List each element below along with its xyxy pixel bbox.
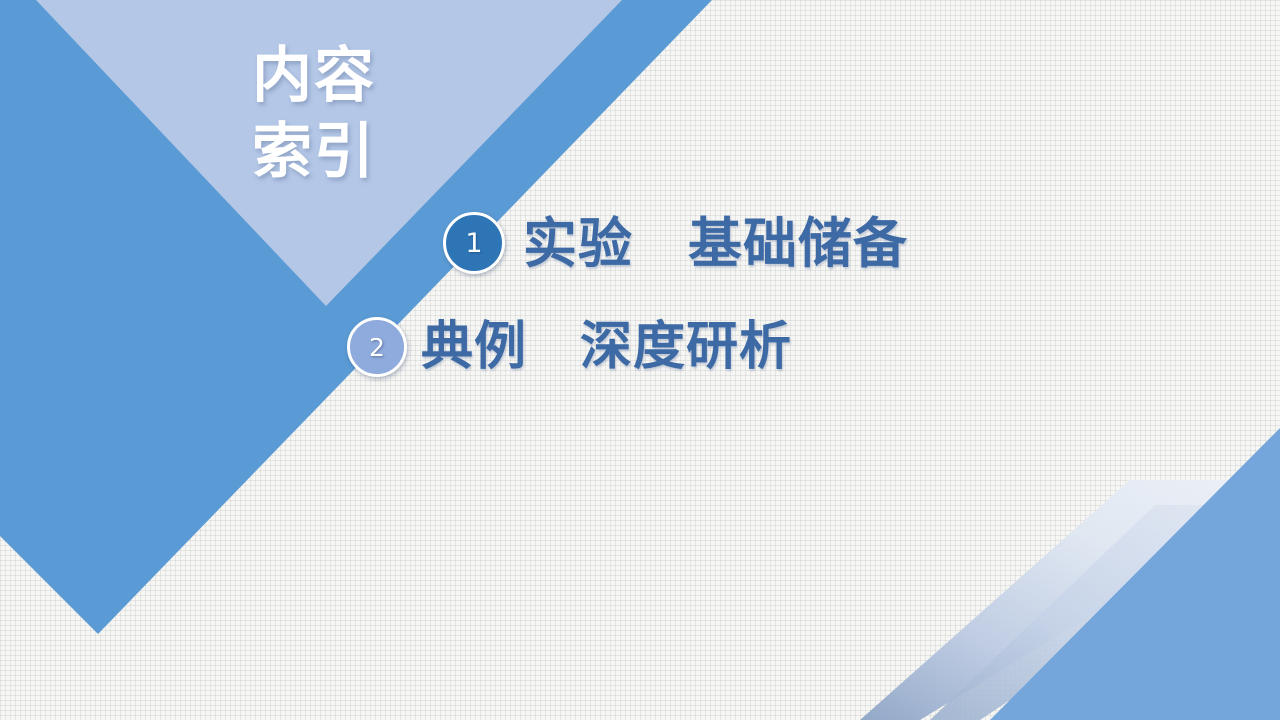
page-title: 内容 索引 — [252, 38, 512, 190]
slide-canvas: 内容 索引 1 实验 基础储备 2 典例 深度研析 — [0, 0, 1280, 720]
agenda-item-2[interactable]: 2 典例 深度研析 — [347, 317, 792, 377]
agenda-badge-1[interactable]: 1 — [443, 212, 505, 274]
agenda-item-1-label: 实验 基础储备 — [523, 214, 908, 272]
page-title-line-2: 索引 — [252, 114, 512, 190]
agenda-item-1[interactable]: 1 实验 基础储备 — [443, 212, 908, 274]
page-title-line-1: 内容 — [252, 38, 512, 114]
agenda-badge-2[interactable]: 2 — [347, 317, 407, 377]
agenda-badge-1-number: 1 — [465, 228, 482, 259]
agenda-item-2-label: 典例 深度研析 — [421, 319, 792, 375]
agenda-badge-2-number: 2 — [369, 333, 385, 362]
